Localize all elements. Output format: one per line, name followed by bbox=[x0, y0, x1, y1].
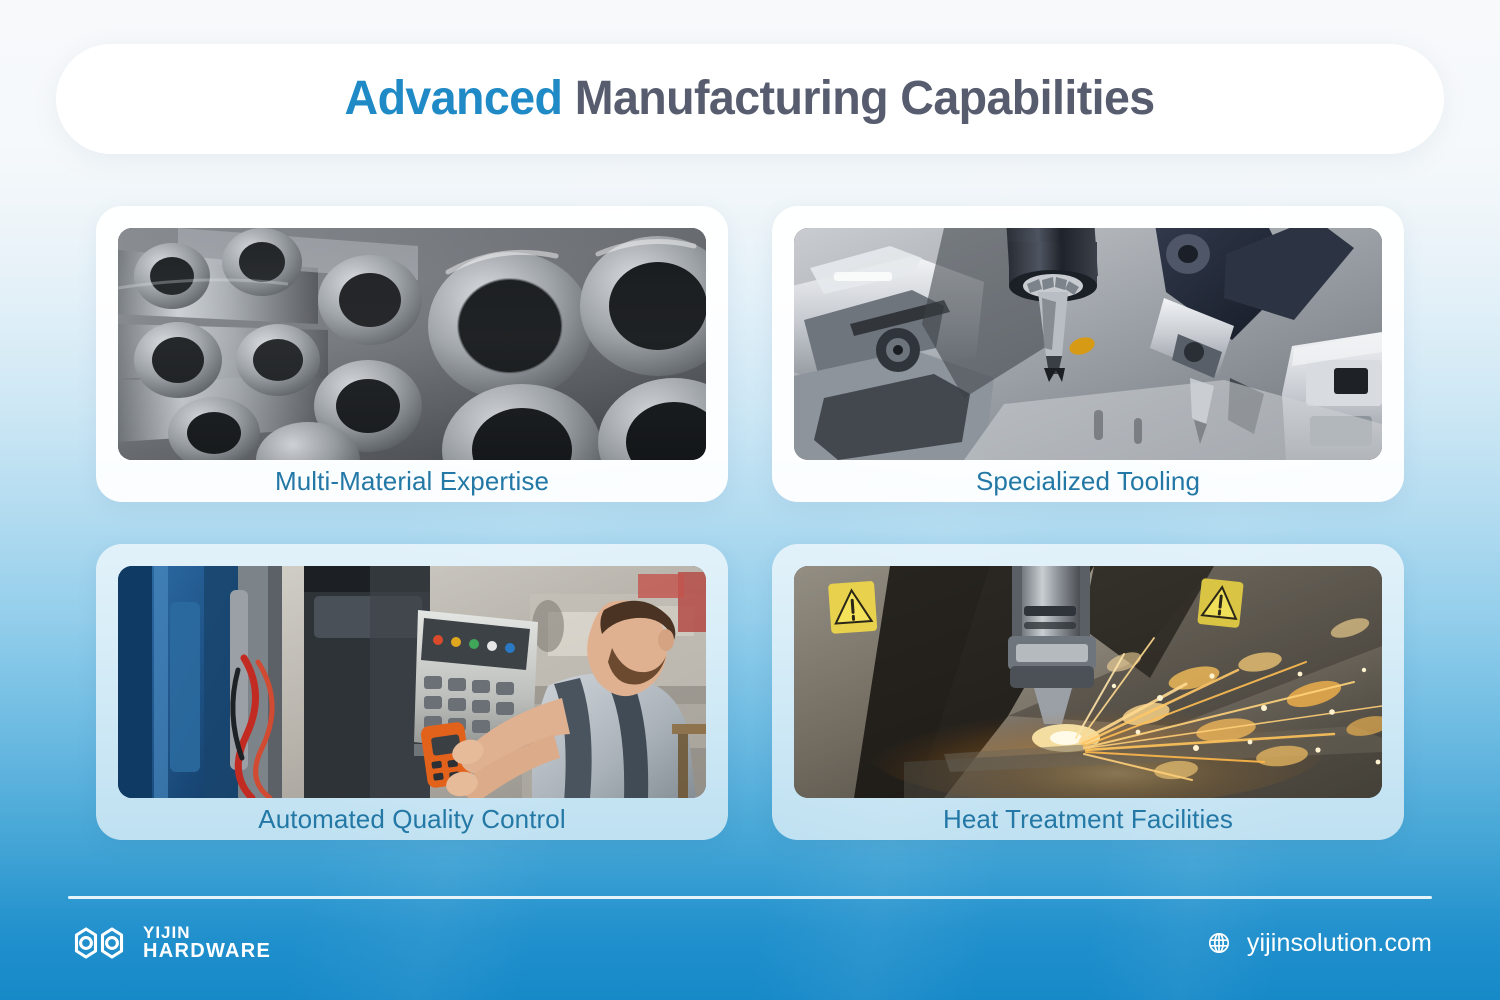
infinity-hexagon-icon bbox=[68, 925, 130, 961]
brand-wordmark: YIJIN HARDWARE bbox=[143, 924, 271, 962]
card-image-cnc-tooling bbox=[794, 228, 1382, 460]
footer-divider bbox=[68, 896, 1432, 899]
card-label-multi-material: Multi-Material Expertise bbox=[275, 460, 549, 502]
brand-name-line1: YIJIN bbox=[143, 924, 271, 941]
card-label-specialized-tooling: Specialized Tooling bbox=[976, 460, 1200, 502]
card-image-laser-cutting-sparks bbox=[794, 566, 1382, 798]
page-title: Advanced Manufacturing Capabilities bbox=[345, 75, 1155, 123]
card-image-operator-control-panel bbox=[118, 566, 706, 798]
globe-icon bbox=[1207, 931, 1231, 955]
card-image-steel-tubes bbox=[118, 228, 706, 460]
page-title-accent: Advanced bbox=[345, 72, 563, 125]
brand-name-line2: HARDWARE bbox=[143, 941, 271, 961]
capability-card-heat-treatment[interactable]: Heat Treatment Facilities bbox=[772, 544, 1404, 840]
capability-card-grid: Multi-Material Expertise bbox=[96, 206, 1404, 840]
website-url-text: yijinsolution.com bbox=[1247, 929, 1432, 958]
card-label-quality-control: Automated Quality Control bbox=[258, 798, 565, 840]
capability-card-quality-control[interactable]: Automated Quality Control bbox=[96, 544, 728, 840]
capability-card-specialized-tooling[interactable]: Specialized Tooling bbox=[772, 206, 1404, 502]
card-label-heat-treatment: Heat Treatment Facilities bbox=[943, 798, 1233, 840]
header-banner: Advanced Manufacturing Capabilities bbox=[56, 44, 1444, 154]
infographic-poster: Advanced Manufacturing Capabilities bbox=[0, 0, 1500, 1000]
website-link[interactable]: yijinsolution.com bbox=[1207, 929, 1432, 958]
page-title-main: Manufacturing Capabilities bbox=[563, 72, 1155, 125]
brand-logo[interactable]: YIJIN HARDWARE bbox=[68, 924, 271, 962]
capability-card-multi-material[interactable]: Multi-Material Expertise bbox=[96, 206, 728, 502]
footer: YIJIN HARDWARE yijinsolution.com bbox=[68, 912, 1432, 974]
